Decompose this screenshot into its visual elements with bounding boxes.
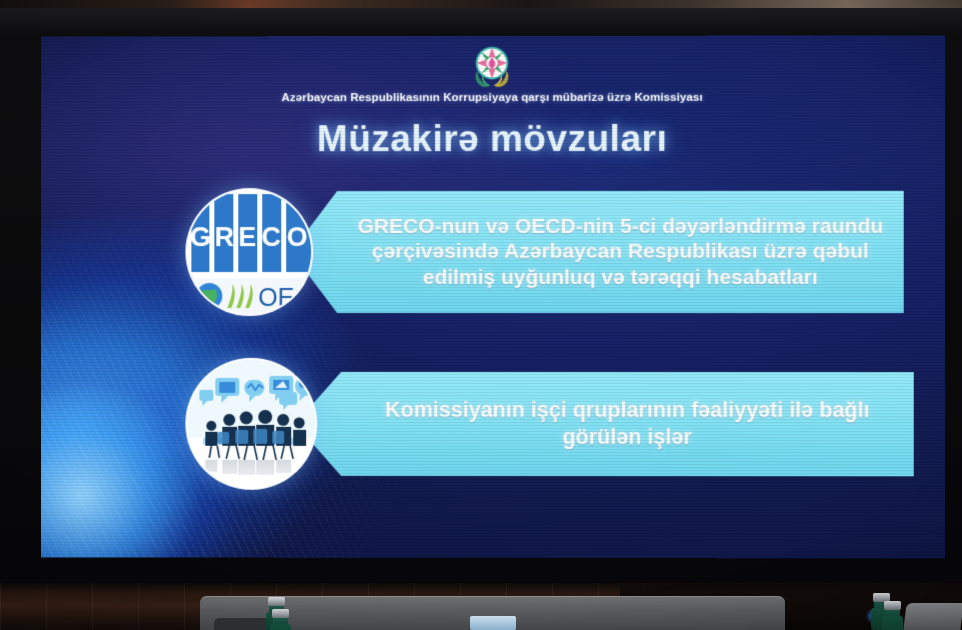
- conference-room-scene: Azərbaycan Respublikasının Korrupsiyaya …: [0, 0, 962, 630]
- slide-item-2-callout: Komissiyanın işçi qruplarının fəaliyyəti…: [295, 372, 914, 476]
- desk-monitor: [470, 616, 516, 630]
- emblem-container: [41, 38, 945, 91]
- svg-text:O: O: [287, 222, 308, 252]
- svg-text:OECD: OECD: [258, 284, 313, 312]
- svg-text:E: E: [238, 222, 256, 252]
- desk-right-panel: [903, 603, 962, 630]
- greco-oecd-logo-icon: G R E C O: [185, 188, 313, 316]
- svg-text:G: G: [190, 222, 211, 252]
- slide-item-row-2: Komissiyanın işçi qruplarının fəaliyyəti…: [185, 358, 913, 490]
- azerbaijan-coat-of-arms-icon: [468, 39, 516, 91]
- svg-text:R: R: [215, 222, 234, 252]
- slide-item-1-callout: GRECO-nun və OECD-nin 5-ci dəyərləndirmə…: [291, 191, 904, 313]
- slide-content: Azərbaycan Respublikasının Korrupsiyaya …: [41, 35, 945, 558]
- working-group-meeting-photo-icon: [185, 358, 317, 490]
- commission-name: Azərbaycan Respublikasının Korrupsiyaya …: [41, 92, 945, 105]
- bezel-sheen: [0, 8, 962, 34]
- svg-text:C: C: [261, 222, 280, 252]
- desk-notch: [214, 618, 272, 630]
- slide-title: Müzakirə mövzuları: [41, 118, 945, 161]
- presentation-slide: Azərbaycan Respublikasının Korrupsiyaya …: [41, 35, 945, 558]
- slide-item-row-1: G R E C O: [185, 188, 903, 316]
